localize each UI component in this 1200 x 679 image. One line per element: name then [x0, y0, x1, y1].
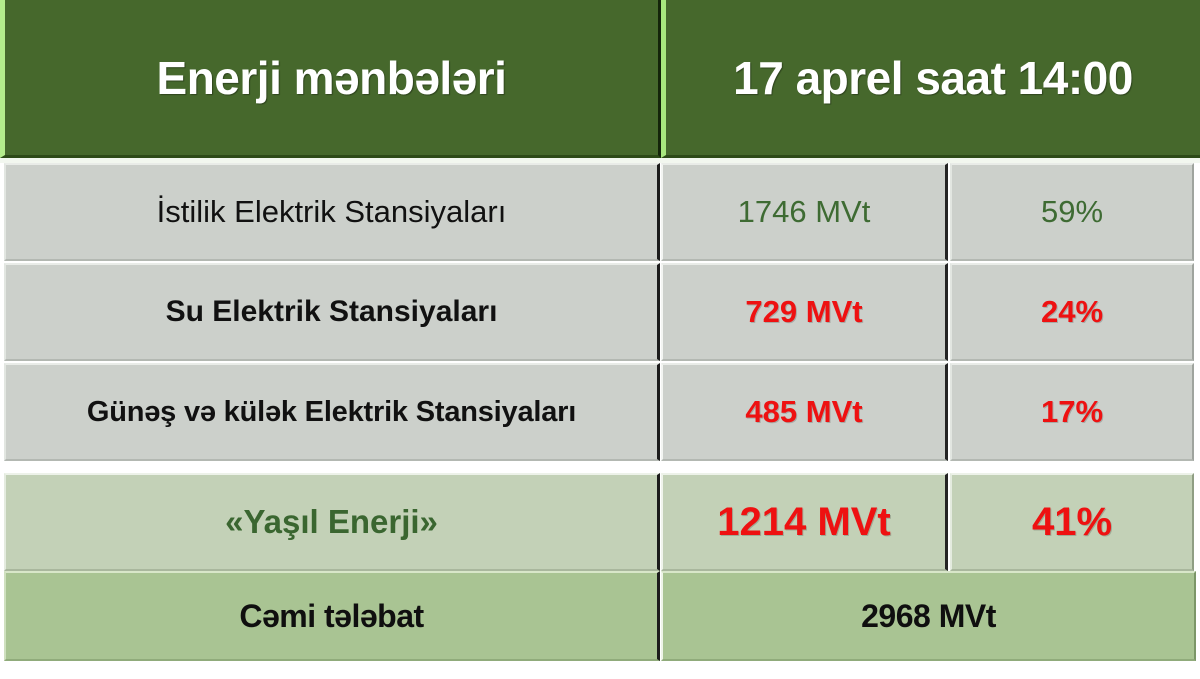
total-power-value: 2968 MVt — [861, 598, 996, 635]
row-percent-value: 24% — [1041, 294, 1103, 330]
header-cell-energy-sources: Enerji mənbələri — [0, 0, 661, 158]
table-header-row: Enerji mənbələri 17 aprel saat 14:00 — [0, 0, 1200, 158]
total-demand-row: Cəmi tələbat 2968 MVt — [0, 571, 1200, 661]
row-percent-cell: 17% — [950, 363, 1194, 461]
summary-power-cell: 1214 MVt — [661, 473, 948, 571]
total-power-cell: 2968 MVt — [661, 571, 1196, 661]
row-label-cell: İstilik Elektrik Stansiyaları — [4, 163, 660, 261]
summary-percent-value: 41% — [1032, 500, 1112, 545]
header-label-energy-sources: Enerji mənbələri — [157, 51, 507, 105]
row-power-value: 729 MVt — [745, 294, 862, 330]
summary-label-cell: «Yaşıl Enerji» — [4, 473, 660, 571]
table-row: İstilik Elektrik Stansiyaları 1746 MVt 5… — [0, 163, 1200, 261]
row-percent-cell: 59% — [950, 163, 1194, 261]
summary-power-value: 1214 MVt — [717, 500, 890, 545]
summary-percent-cell: 41% — [950, 473, 1194, 571]
row-label: Günəş və külək Elektrik Stansiyaları — [87, 396, 576, 429]
row-percent-value: 17% — [1041, 394, 1103, 430]
row-power-value: 485 MVt — [745, 394, 862, 430]
row-percent-value: 59% — [1041, 194, 1103, 230]
header-label-timestamp: 17 aprel saat 14:00 — [733, 51, 1133, 105]
row-label-cell: Günəş və külək Elektrik Stansiyaları — [4, 363, 660, 461]
data-rows-group: İstilik Elektrik Stansiyaları 1746 MVt 5… — [0, 163, 1200, 461]
section-gap — [0, 461, 1200, 473]
summary-label: «Yaşıl Enerji» — [225, 503, 438, 541]
header-cell-timestamp: 17 aprel saat 14:00 — [661, 0, 1200, 158]
total-label: Cəmi tələbat — [239, 598, 423, 635]
row-power-cell: 485 MVt — [661, 363, 948, 461]
total-label-cell: Cəmi tələbat — [4, 571, 660, 661]
row-power-cell: 1746 MVt — [661, 163, 948, 261]
row-label: İstilik Elektrik Stansiyaları — [157, 194, 507, 230]
summary-row-green-energy: «Yaşıl Enerji» 1214 MVt 41% — [0, 473, 1200, 571]
row-power-cell: 729 MVt — [661, 263, 948, 361]
table-row: Su Elektrik Stansiyaları 729 MVt 24% — [0, 263, 1200, 361]
table-row: Günəş və külək Elektrik Stansiyaları 485… — [0, 363, 1200, 461]
row-label: Su Elektrik Stansiyaları — [166, 295, 498, 329]
row-label-cell: Su Elektrik Stansiyaları — [4, 263, 660, 361]
row-power-value: 1746 MVt — [738, 194, 871, 230]
row-percent-cell: 24% — [950, 263, 1194, 361]
energy-sources-table: Enerji mənbələri 17 aprel saat 14:00 İst… — [0, 0, 1200, 679]
